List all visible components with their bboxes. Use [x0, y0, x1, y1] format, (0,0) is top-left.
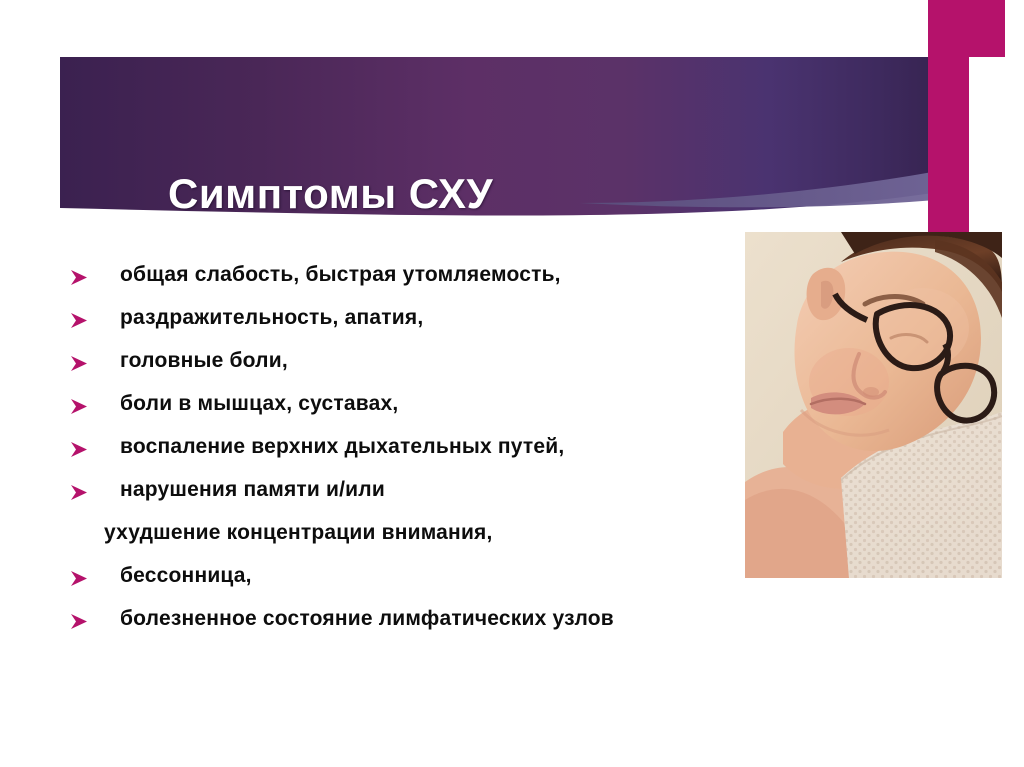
list-item-label: болезненное состояние лимфатических узло…: [120, 606, 614, 633]
presentation-slide: Симптомы СХУ: [0, 0, 1024, 767]
photo-illustration: [745, 232, 1002, 578]
list-item-label: общая слабость, быстрая утомляемость,: [120, 262, 561, 289]
arrowhead-bullet-icon: [68, 439, 94, 461]
list-item: нарушения памяти и/или: [60, 477, 750, 520]
list-item-label: бессонница,: [120, 563, 252, 590]
list-item-label: воспаление верхних дыхательных путей,: [120, 434, 564, 461]
list-item: болезненное состояние лимфатических узло…: [60, 606, 750, 649]
symptoms-list: общая слабость, быстрая утомляемость, ра…: [60, 262, 750, 649]
photo-sleeping-woman: [745, 232, 1002, 578]
page-title: Симптомы СХУ: [168, 170, 493, 218]
list-item: боли в мышцах, суставах,: [60, 391, 750, 434]
list-item-label: головные боли,: [120, 348, 288, 375]
arrowhead-bullet-icon: [68, 310, 94, 332]
accent-bar: [928, 57, 969, 179]
list-item-label: боли в мышцах, суставах,: [120, 391, 398, 418]
accent-bar-top-segment: [928, 0, 1005, 57]
arrowhead-bullet-icon: [68, 396, 94, 418]
list-item-label: раздражительность, апатия,: [120, 305, 423, 332]
accent-bar-shape: [928, 57, 969, 232]
arrowhead-bullet-icon: [68, 482, 94, 504]
list-item-continuation: ухудшение концентрации внимания,: [60, 520, 750, 563]
list-item: воспаление верхних дыхательных путей,: [60, 434, 750, 477]
arrowhead-bullet-icon: [68, 611, 94, 633]
list-item-label: ухудшение концентрации внимания,: [104, 520, 493, 547]
arrowhead-bullet-icon: [68, 267, 94, 289]
arrowhead-bullet-icon: [68, 568, 94, 590]
list-item: бессонница,: [60, 563, 750, 606]
list-item: общая слабость, быстрая утомляемость,: [60, 262, 750, 305]
arrowhead-bullet-icon: [68, 353, 94, 375]
title-banner: Симптомы СХУ: [60, 57, 969, 232]
list-item-label: нарушения памяти и/или: [120, 477, 385, 504]
list-item: головные боли,: [60, 348, 750, 391]
list-item: раздражительность, апатия,: [60, 305, 750, 348]
